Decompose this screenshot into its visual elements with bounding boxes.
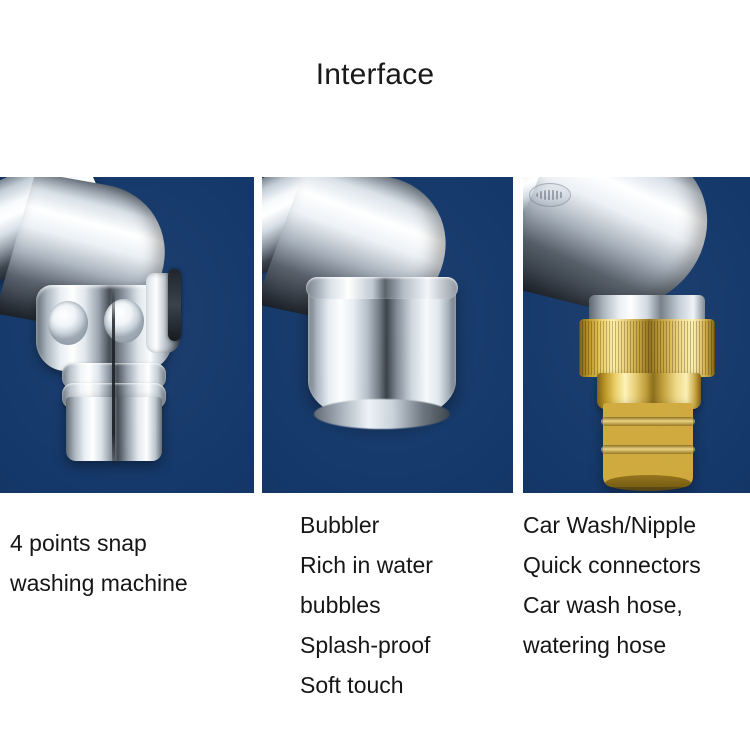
snap-slot-shape (168, 269, 181, 341)
snap-point-dot-2 (104, 299, 144, 343)
chrome-seam-line (112, 289, 115, 465)
caption-line: Car Wash/Nipple (523, 505, 701, 545)
brass-knurl-texture (579, 321, 715, 375)
bubbler-bottom-edge (314, 399, 450, 429)
caption-column-3: Car Wash/Nipple Quick connectors Car was… (523, 505, 701, 665)
caption-line: Splash-proof (300, 625, 433, 665)
faucet-spout-brass-quick-connector-photo (523, 177, 750, 493)
faucet-spout-bubbler-aerator-photo (262, 177, 513, 493)
panel-strip (0, 177, 750, 493)
caption-column-1: 4 points snap washing machine (10, 523, 188, 603)
product-panel-1[interactable] (0, 177, 254, 493)
snap-point-dot-1 (48, 301, 88, 345)
page-title: Interface (0, 56, 750, 94)
caption-line: Soft touch (300, 665, 433, 705)
caption-line: Rich in water (300, 545, 433, 585)
caption-line: 4 points snap (10, 523, 188, 563)
bubbler-rim-shape (306, 277, 458, 299)
caption-column-2: Bubbler Rich in water bubbles Splash-pro… (300, 505, 433, 705)
caption-line: Car wash hose, (523, 585, 701, 625)
caption-line: bubbles (300, 585, 433, 625)
brass-rib-1 (601, 417, 695, 426)
caption-area: 4 points snap washing machine Bubbler Ri… (0, 493, 750, 750)
caption-line: Bubbler (300, 505, 433, 545)
brass-tip-shadow (605, 475, 691, 491)
product-panel-2[interactable] (262, 177, 513, 493)
caption-line: Quick connectors (523, 545, 701, 585)
product-panel-3[interactable] (523, 177, 750, 493)
brass-rib-2 (601, 445, 695, 454)
caption-line: watering hose (523, 625, 701, 665)
faucet-spout-4-point-snap-adapter-photo (0, 177, 254, 493)
product-infographic: Interface (0, 0, 750, 750)
brand-logo-etching-icon (529, 183, 571, 207)
caption-line: washing machine (10, 563, 188, 603)
